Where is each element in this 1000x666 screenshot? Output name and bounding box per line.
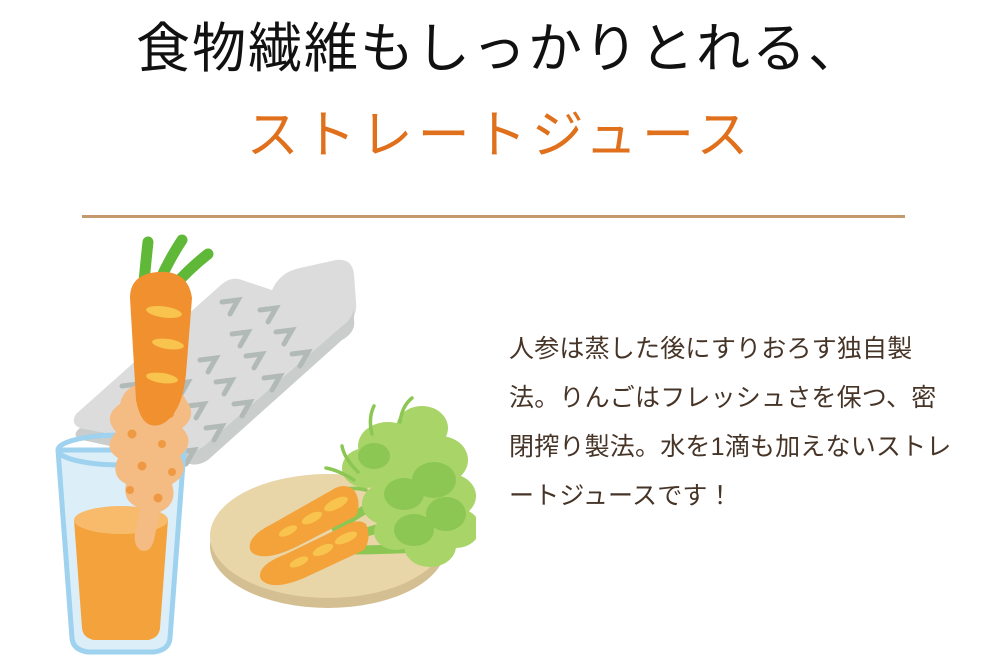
carrot-juice-illustration <box>36 228 476 658</box>
horizontal-divider <box>82 215 905 218</box>
page-title-line-2: ストレートジュース <box>0 103 1000 171</box>
body-paragraph: 人参は蒸した後にすりおろす独自製法。りんごはフレッシュさを保つ、密閉搾り製法。水… <box>509 325 961 521</box>
page-title-line-1: 食物繊維もしっかりとれる、 <box>0 14 1000 84</box>
banner-page: 食物繊維もしっかりとれる、 ストレートジュース <box>0 0 1000 666</box>
